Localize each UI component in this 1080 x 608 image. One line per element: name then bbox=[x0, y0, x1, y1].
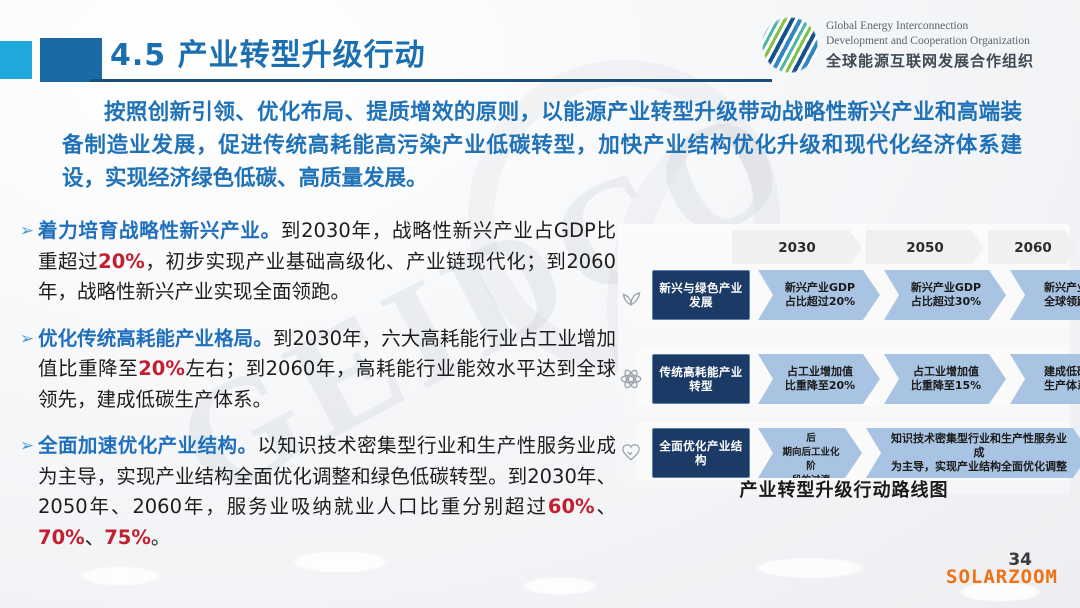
leaf-icon bbox=[614, 278, 648, 312]
roadmap-row: 全面优化产业结构完成由工业化后期向后工业化阶段的过渡知识技术密集型行业和生产性服… bbox=[618, 428, 1070, 478]
roadmap-row-label[interactable]: 传统高耗能产业转型 bbox=[652, 354, 750, 404]
bullet-highlight-value: 20% bbox=[138, 357, 185, 380]
roadmap-stage-text: 新兴产业GDP占比超过20% bbox=[765, 281, 873, 309]
roadmap-stage-text: 新兴产业GDP占比超过30% bbox=[891, 281, 999, 309]
bullet-text: 着力培育战略性新兴产业。到2030年，战略性新兴产业占GDP比重超过20%，初步… bbox=[38, 216, 616, 308]
roadmap-caption: 产业转型升级行动路线图 bbox=[618, 476, 1070, 502]
slide-root: GEIDCO 4.5 产业转型升级行动 Global Energy Interc… bbox=[0, 0, 1080, 608]
bullet-body-text: 、 bbox=[595, 495, 616, 518]
bullet-marker-icon: ➢ bbox=[16, 431, 38, 553]
roadmap-year-header: 203020502060 bbox=[732, 230, 1070, 266]
bullet-body-text: 。 bbox=[151, 526, 171, 549]
bullet-item: ➢优化传统高耗能产业格局。到2030年，六大高耗能行业占工业增加值比重降至20%… bbox=[16, 324, 616, 416]
bullet-heading: 着力培育战略性新兴产业。 bbox=[38, 219, 281, 242]
bullet-heading: 全面加速优化产业结构。 bbox=[38, 434, 257, 457]
logo-text-block: Global Energy Interconnection Developmen… bbox=[826, 19, 1034, 71]
roadmap-stage[interactable]: 占工业增加值比重降至20% bbox=[758, 354, 880, 404]
roadmap-row-label[interactable]: 新兴与绿色产业发展 bbox=[652, 270, 750, 320]
roadmap-year-2030: 2030 bbox=[732, 230, 862, 266]
roadmap-stage[interactable]: 知识技术密集型行业和生产性服务业成为主导，实现产业结构全面优化调整 bbox=[866, 428, 1080, 478]
bullet-highlight-value: 70% bbox=[38, 526, 85, 549]
handshake-icon bbox=[614, 436, 648, 470]
roadmap-stage[interactable]: 建成低碳生产体系 bbox=[1010, 354, 1080, 404]
bullet-body-text: 、 bbox=[85, 526, 105, 549]
bullet-marker-icon: ➢ bbox=[16, 216, 38, 308]
bullet-marker-icon: ➢ bbox=[16, 324, 38, 416]
roadmap-stage[interactable]: 新兴产业全球领跑 bbox=[1010, 270, 1080, 320]
bullet-item: ➢着力培育战略性新兴产业。到2030年，战略性新兴产业占GDP比重超过20%，初… bbox=[16, 216, 616, 308]
atom-icon bbox=[614, 362, 648, 396]
page-title: 4.5 产业转型升级行动 bbox=[110, 30, 426, 74]
roadmap-stage[interactable]: 完成由工业化后期向后工业化阶段的过渡 bbox=[758, 428, 862, 478]
roadmap-row-label[interactable]: 全面优化产业结构 bbox=[652, 428, 750, 478]
roadmap-stage[interactable]: 占工业增加值比重降至15% bbox=[884, 354, 1006, 404]
roadmap-row: 新兴与绿色产业发展新兴产业GDP占比超过20%新兴产业GDP占比超过30%新兴产… bbox=[618, 270, 1070, 320]
roadmap-stage[interactable]: 新兴产业GDP占比超过30% bbox=[884, 270, 1006, 320]
roadmap-stage-text: 新兴产业全球领跑 bbox=[1024, 281, 1080, 309]
header-accent-square-cyan bbox=[0, 41, 32, 79]
logo-chinese-name: 全球能源互联网发展合作组织 bbox=[826, 50, 1034, 71]
title-divider bbox=[90, 79, 772, 82]
bullet-item: ➢全面加速优化产业结构。以知识技术密集型行业和生产性服务业成为主导，实现产业结构… bbox=[16, 431, 616, 553]
bullet-text: 全面加速优化产业结构。以知识技术密集型行业和生产性服务业成为主导，实现产业结构全… bbox=[38, 431, 616, 553]
bullet-heading: 优化传统高耗能产业格局。 bbox=[38, 327, 273, 350]
roadmap-row: 传统高耗能产业转型占工业增加值比重降至20%占工业增加值比重降至15%建成低碳生… bbox=[618, 354, 1070, 404]
roadmap-stage-text: 建成低碳生产体系 bbox=[1024, 365, 1080, 393]
logo-english-line1: Global Energy Interconnection bbox=[826, 19, 1034, 34]
bullet-highlight-value: 60% bbox=[548, 495, 595, 518]
roadmap-stage-text: 占工业增加值比重降至20% bbox=[765, 365, 873, 393]
lead-paragraph: 按照创新引领、优化布局、提质增效的原则，以能源产业转型升级带动战略性新兴产业和高… bbox=[62, 96, 1022, 195]
header-accent-square-blue bbox=[40, 38, 102, 82]
footer-watermark: SOLARZOOM bbox=[946, 566, 1058, 588]
bullet-text: 优化传统高耗能产业格局。到2030年，六大高耗能行业占工业增加值比重降至20%左… bbox=[38, 324, 616, 416]
roadmap-stage[interactable]: 新兴产业GDP占比超过20% bbox=[758, 270, 880, 320]
roadmap-stage-text: 占工业增加值比重降至15% bbox=[891, 365, 999, 393]
globe-logo-icon bbox=[762, 17, 818, 73]
bullet-list: ➢着力培育战略性新兴产业。到2030年，战略性新兴产业占GDP比重超过20%，初… bbox=[16, 216, 616, 569]
bullet-highlight-value: 20% bbox=[98, 250, 145, 273]
roadmap-year-2060: 2060 bbox=[988, 230, 1078, 266]
bullet-highlight-value: 75% bbox=[104, 526, 151, 549]
roadmap-stage-text: 知识技术密集型行业和生产性服务业成为主导，实现产业结构全面优化调整 bbox=[866, 432, 1080, 474]
organization-logo: Global Energy Interconnection Developmen… bbox=[762, 14, 1070, 76]
logo-english-line2: Development and Cooperation Organization bbox=[826, 34, 1034, 49]
roadmap-year-2050: 2050 bbox=[866, 230, 984, 266]
roadmap-panel: 203020502060 新兴与绿色产业发展新兴产业GDP占比超过20%新兴产业… bbox=[618, 224, 1070, 494]
